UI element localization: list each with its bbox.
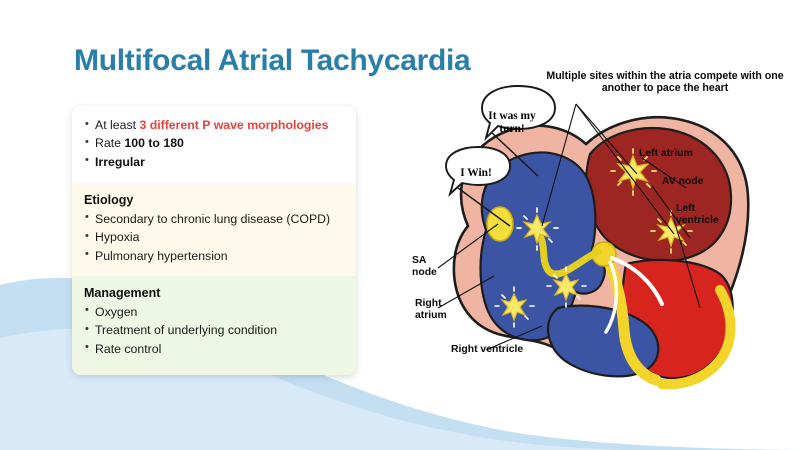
management-heading: Management — [84, 285, 344, 302]
card-section-etiology: Etiology Secondary to chronic lung disea… — [72, 183, 356, 276]
list-item: Rate control — [84, 341, 344, 358]
feature-highlight: 3 different P wave morphologies — [139, 118, 328, 132]
etiology-list: Secondary to chronic lung disease (COPD)… — [84, 211, 344, 265]
card-section-management: Management Oxygen Treatment of underlyin… — [72, 276, 356, 375]
list-item: Secondary to chronic lung disease (COPD) — [84, 211, 344, 228]
list-item: Hypoxia — [84, 229, 344, 246]
speech-bubble-text-it-was-my-turn: It was my turn! — [481, 110, 543, 136]
list-item: Pulmonary hypertension — [84, 248, 344, 265]
list-item: Irregular — [84, 154, 344, 171]
list-item: Rate 100 to 180 — [84, 135, 344, 152]
label-right-atrium: Right atrium — [415, 298, 447, 323]
feature-lead: Rate — [95, 136, 124, 150]
feature-rhythm: Irregular — [95, 155, 145, 169]
list-item: Treatment of underlying condition — [84, 322, 344, 339]
card-section-features: At least 3 different P wave morphologies… — [72, 106, 356, 183]
management-list: Oxygen Treatment of underlying condition… — [84, 304, 344, 358]
list-item: At least 3 different P wave morphologies — [84, 117, 344, 134]
speech-bubble-text-i-win: I Win! — [451, 167, 501, 180]
feature-lead: At least — [95, 118, 139, 132]
heart-illustration — [390, 58, 790, 398]
feature-rate-value: 100 to 180 — [124, 136, 183, 150]
heart-diagram — [390, 58, 790, 398]
list-item: Oxygen — [84, 304, 344, 321]
slide-canvas: Multifocal Atrial Tachycardia At least 3… — [0, 0, 800, 450]
figure-caption: Multiple sites within the atria compete … — [545, 70, 785, 95]
info-card: At least 3 different P wave morphologies… — [72, 106, 356, 375]
label-av-node: AV node — [662, 176, 703, 188]
feature-list: At least 3 different P wave morphologies… — [84, 117, 344, 171]
label-left-atrium: Left atrium — [639, 148, 693, 160]
etiology-heading: Etiology — [84, 192, 344, 209]
label-left-ventricle: Left ventricle — [676, 203, 719, 228]
label-right-ventricle: Right ventricle — [451, 344, 523, 356]
label-sa-node: SA node — [412, 255, 437, 280]
